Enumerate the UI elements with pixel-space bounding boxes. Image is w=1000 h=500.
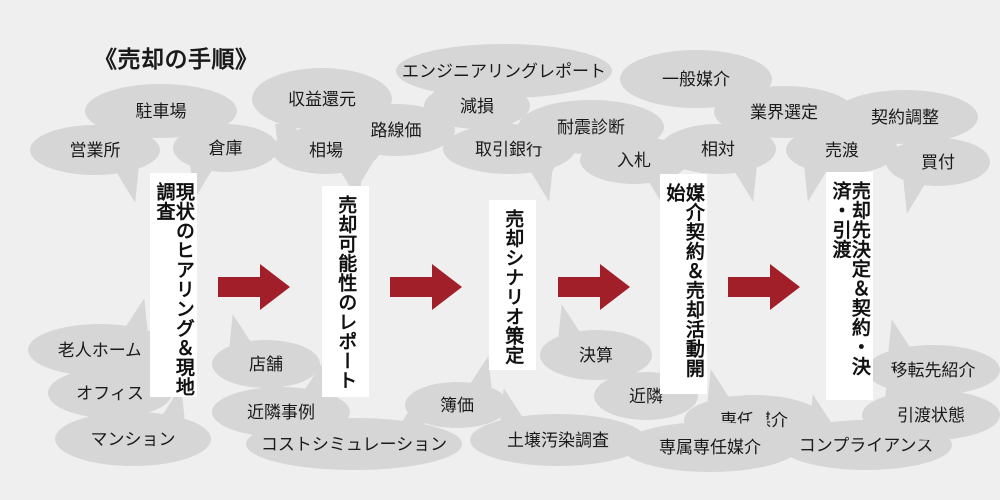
bubble-sole-exclusive-mediation[interactable]: 専属専任媒介	[622, 422, 798, 472]
bubble-label: エンジニアリングレポート	[402, 63, 606, 80]
bubble-label: 簿価	[440, 397, 474, 414]
bubble-label: 減損	[460, 98, 494, 115]
bubble-label: 収益還元	[288, 91, 356, 108]
page-title: 《売却の手順》	[94, 40, 259, 74]
bubble-condominium[interactable]: マンション	[55, 412, 211, 466]
stage-box-4[interactable]: 媒介契約＆売却活動開始	[660, 174, 707, 394]
bubble-label: 契約調整	[871, 109, 939, 126]
bubble-tail-icon	[230, 314, 269, 350]
stage-label: 媒介契約＆売却活動開始	[664, 183, 703, 394]
stage-box-1[interactable]: 現状のヒアリング＆現地調査	[150, 173, 197, 397]
bubble-label: 駐車場	[136, 103, 187, 120]
bubble-negotiated-transaction[interactable]: 相対	[660, 124, 776, 174]
bubble-tail-icon	[112, 342, 151, 378]
diagram-canvas: 《売却の手順》 駐車場 営業所 倉庫 収益還元 相場 路線価 エンジニアリングレ…	[0, 0, 1000, 500]
stage-box-2[interactable]: 売却可能性のレポート	[322, 186, 369, 397]
bubble-tail-icon	[717, 164, 756, 202]
bubble-label: 店舗	[249, 356, 283, 373]
bubble-label: 入札	[617, 152, 651, 169]
bubble-label: 路線価	[371, 122, 422, 139]
stage-label: 売却シナリオ策定	[503, 209, 522, 370]
bubble-tail-icon	[453, 356, 492, 392]
bubble-label: 引渡状態	[897, 407, 965, 424]
bubble-label: 業界選定	[750, 104, 818, 121]
bubble-warehouse[interactable]: 倉庫	[173, 124, 278, 172]
bubble-label: 近隣事例	[247, 404, 315, 421]
stage-label: 売却可能性のレポート	[336, 195, 355, 397]
bubble-soil-contamination-survey[interactable]: 土壌汚染調査	[470, 414, 646, 466]
bubble-tail-icon	[500, 388, 539, 424]
bubble-label: 専属専任媒介	[659, 439, 761, 456]
bubble-contract-adjustment[interactable]: 契約調整	[832, 90, 978, 144]
bubble-cost-simulation[interactable]: コストシミュレーション	[246, 418, 462, 470]
bubble-label: 耐震診断	[557, 119, 625, 136]
bubble-tail-icon	[903, 176, 942, 214]
bubble-label: オフィス	[76, 385, 144, 402]
bubble-impairment[interactable]: 減損	[424, 83, 530, 129]
bubble-label: 営業所	[70, 142, 121, 159]
bubble-label: 相場	[309, 142, 343, 159]
stage-box-3[interactable]: 売却シナリオ策定	[489, 200, 536, 370]
bubble-handover-condition[interactable]: 引渡状態	[862, 390, 1000, 440]
bubble-label: 一般媒介	[662, 71, 730, 88]
bubble-label: 近隣	[629, 388, 663, 405]
arrow-stage1-stage2	[218, 264, 290, 310]
arrow-stage2-stage3	[390, 264, 462, 310]
bubble-label: 相対	[701, 141, 735, 158]
bubble-tail-icon	[729, 396, 768, 432]
bubble-tail-icon	[885, 364, 924, 400]
bubble-label: コストシミュレーション	[261, 436, 447, 453]
bubble-label: 決算	[579, 347, 613, 364]
bubble-tail-icon	[543, 144, 582, 182]
stage-label: 現状のヒアリング＆現地調査	[154, 182, 193, 397]
arrow-stage3-stage4	[558, 264, 630, 310]
stage-label: 売却先決定＆契約・決済・引渡	[830, 181, 869, 400]
bubble-tail-icon	[889, 319, 928, 355]
bubble-tail-icon	[357, 146, 396, 184]
bubble-label: 買付	[921, 154, 955, 171]
bubble-label: 倉庫	[209, 140, 243, 157]
arrow-stage4-stage5	[728, 264, 800, 310]
bubble-label: 土壌汚染調査	[507, 432, 609, 449]
bubble-tail-icon	[99, 165, 138, 203]
bubble-label: 売渡	[825, 142, 859, 159]
bubble-label: マンション	[91, 431, 176, 448]
bubble-tail-icon	[288, 361, 327, 397]
bubble-purchase-offer[interactable]: 買付	[886, 138, 990, 186]
bubble-tail-icon	[109, 298, 148, 334]
bubble-sales-office[interactable]: 営業所	[30, 125, 160, 175]
stage-box-5[interactable]: 売却先決定＆契約・決済・引渡	[826, 172, 873, 400]
